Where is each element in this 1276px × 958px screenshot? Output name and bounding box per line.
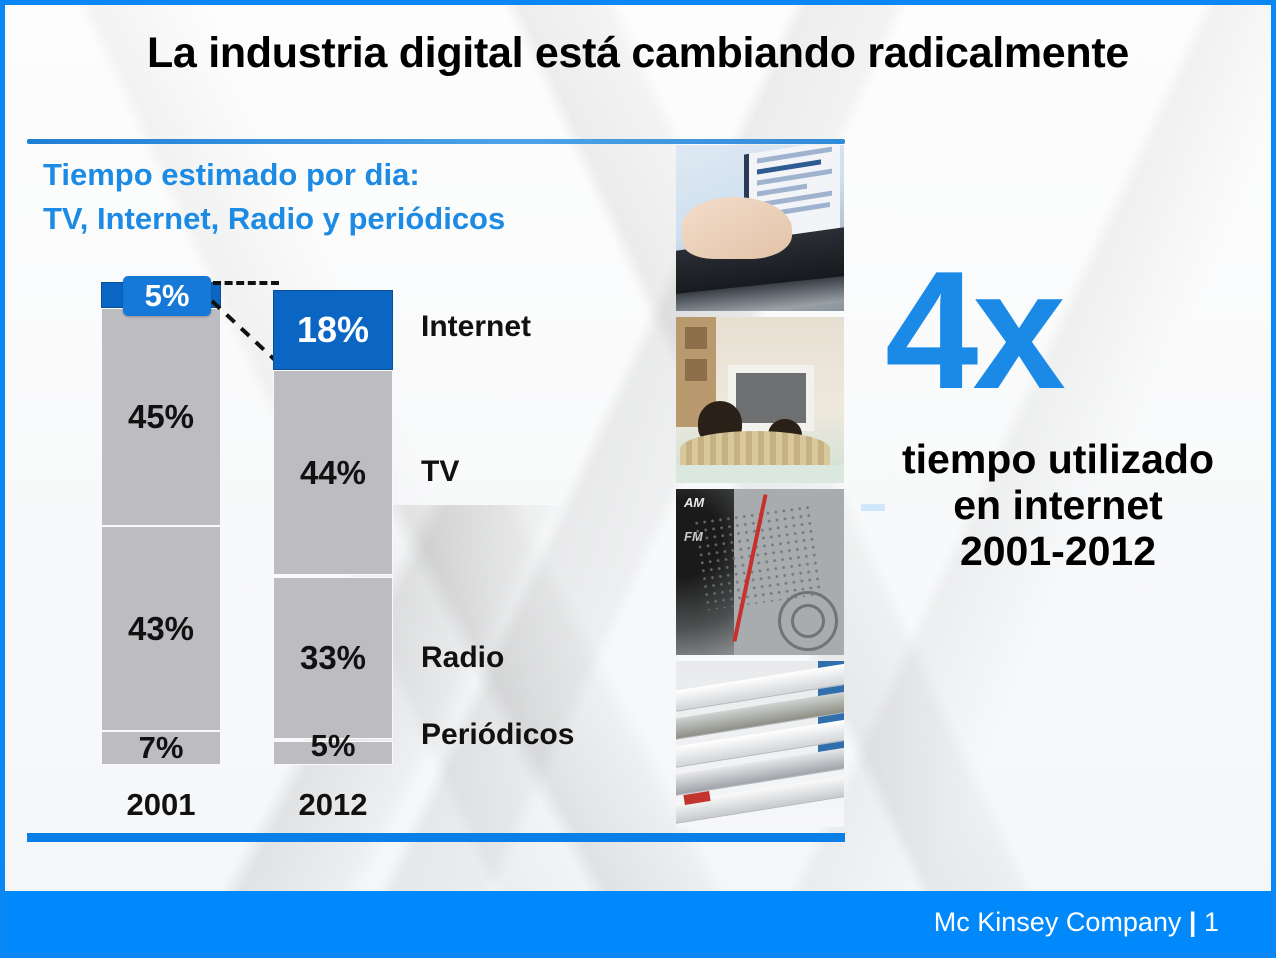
newspapers-stack-photo bbox=[676, 661, 844, 827]
footer-bar: Mc Kinsey Company | 1 bbox=[5, 891, 1271, 953]
dash-mark-icon bbox=[861, 504, 885, 511]
laptop-typing-photo bbox=[676, 145, 844, 311]
radio-fm-label: FM bbox=[684, 529, 703, 544]
photo-strip: AM FM bbox=[676, 145, 844, 833]
callout-line-2-wrap: en internet bbox=[835, 483, 1276, 529]
bar-segment-2012-tv[interactable]: 44% bbox=[273, 370, 393, 575]
callout-line-2: en internet bbox=[953, 482, 1163, 528]
bar-column-2012[interactable]: 18% 44% 33% 5% bbox=[273, 290, 393, 765]
legend-label-periodicos: Periódicos bbox=[421, 718, 574, 752]
hand-icon bbox=[682, 197, 792, 259]
bar-column-2001[interactable]: 45% 43% 7% bbox=[101, 282, 221, 765]
multiplier-callout: 4x bbox=[885, 251, 1276, 411]
bar-segment-2001-radio[interactable]: 43% bbox=[101, 526, 221, 731]
stacked-bar-chart: 45% 43% 7% 5% 18% 44% 33% 5% 2001 2012 I… bbox=[5, 5, 675, 835]
footer-text: Mc Kinsey Company | 1 bbox=[934, 907, 1219, 938]
person-shoulder-icon bbox=[680, 431, 830, 467]
connector-dashed-horizontal bbox=[213, 281, 279, 285]
bar-label-2001-internet-badge: 5% bbox=[123, 276, 211, 316]
callout-line-3: 2001-2012 bbox=[835, 529, 1276, 575]
bar-segment-2012-radio[interactable]: 33% bbox=[273, 577, 393, 739]
bar-segment-2012-internet[interactable]: 18% bbox=[273, 290, 393, 370]
floor-icon bbox=[676, 465, 844, 483]
bar-segment-2001-periodicos[interactable]: 7% bbox=[101, 731, 221, 765]
footer-company: Mc Kinsey Company bbox=[934, 907, 1182, 937]
radio-am-label: AM bbox=[684, 495, 704, 510]
footer-separator: | bbox=[1189, 907, 1197, 937]
footer-page-number: 1 bbox=[1204, 907, 1219, 937]
bar-segment-2001-tv[interactable]: 45% bbox=[101, 308, 221, 526]
watching-tv-photo bbox=[676, 317, 844, 483]
legend-label-tv: TV bbox=[421, 455, 459, 489]
legend-label-internet: Internet bbox=[421, 310, 531, 344]
axis-label-2001: 2001 bbox=[81, 787, 241, 823]
radio-dial-photo: AM FM bbox=[676, 489, 844, 655]
bar-segment-2012-periodicos[interactable]: 5% bbox=[273, 741, 393, 765]
callout-text: tiempo utilizado en internet 2001-2012 bbox=[835, 437, 1276, 575]
axis-label-2012: 2012 bbox=[253, 787, 413, 823]
callout-line-1: tiempo utilizado bbox=[835, 437, 1276, 483]
legend-label-radio: Radio bbox=[421, 641, 504, 675]
radio-wave-icon bbox=[778, 591, 838, 651]
slide: La industria digital está cambiando radi… bbox=[0, 0, 1276, 958]
